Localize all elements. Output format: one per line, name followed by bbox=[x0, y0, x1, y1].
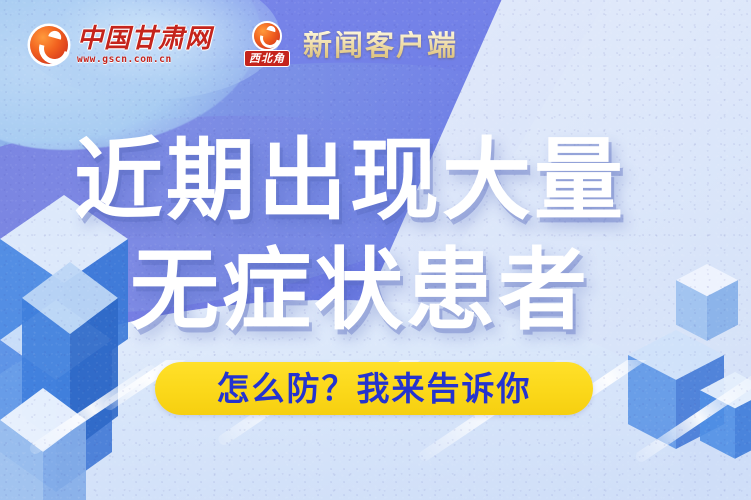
headline-line-1: 近期出现大量 bbox=[74, 136, 626, 225]
iso-face bbox=[707, 280, 738, 341]
cta-banner[interactable]: 怎么防？我来告诉你 bbox=[155, 362, 593, 415]
app-logo-name: 新闻客户端 bbox=[303, 31, 458, 60]
app-logo[interactable]: 西北角 新闻客户端 bbox=[244, 23, 458, 67]
iso-face bbox=[22, 262, 118, 334]
site-logo-name: 中国甘肃网 bbox=[77, 26, 212, 52]
header-logos: 中国甘肃网 www.gscn.com.cn 西北角 新闻客户端 bbox=[0, 0, 751, 90]
swan-logo-icon bbox=[30, 26, 68, 64]
cta-banner-label: 怎么防？我来告诉你 bbox=[217, 372, 532, 405]
headline-line-2: 无症状患者 bbox=[130, 246, 590, 335]
swan-logo-icon-small bbox=[254, 23, 280, 49]
streak bbox=[634, 371, 751, 464]
site-logo-text: 中国甘肃网 www.gscn.com.cn bbox=[77, 26, 212, 65]
site-logo-url: www.gscn.com.cn bbox=[77, 54, 172, 65]
iso-face bbox=[676, 280, 707, 341]
app-logo-tag: 西北角 bbox=[244, 50, 290, 67]
site-logo[interactable]: 中国甘肃网 www.gscn.com.cn bbox=[30, 26, 212, 65]
poster-root: 中国甘肃网 www.gscn.com.cn 西北角 新闻客户端 近期出现大量 无… bbox=[0, 0, 751, 500]
iso-face bbox=[0, 195, 128, 283]
iso-face bbox=[676, 264, 738, 296]
app-logo-mark: 西北角 bbox=[244, 23, 290, 67]
left-sweep-shape-2 bbox=[0, 83, 470, 367]
